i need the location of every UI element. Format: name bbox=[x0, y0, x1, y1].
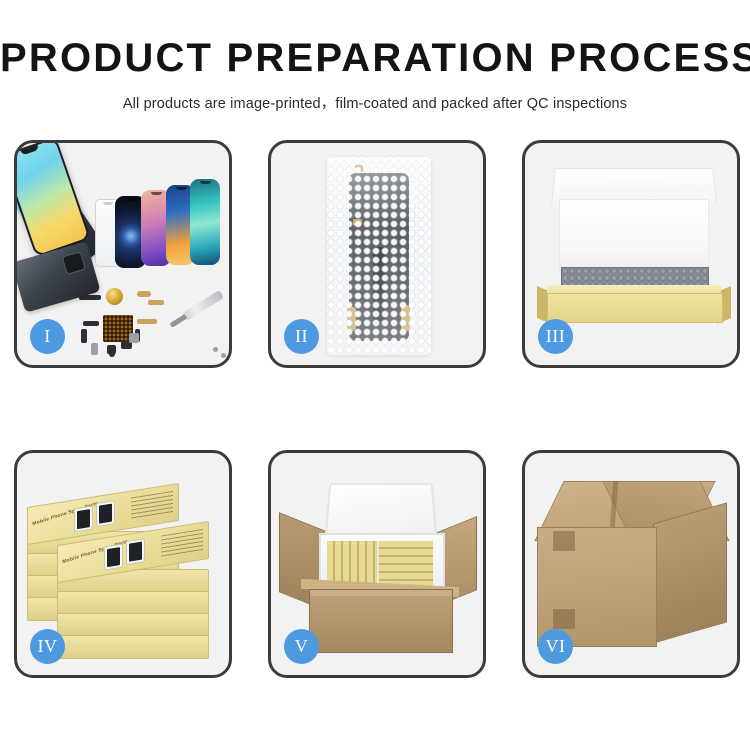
step-panel-4: Mobile Phone Spare Parts Mobile Phone Sp… bbox=[14, 450, 232, 678]
header: PRODUCT PREPARATION PROCESS All products… bbox=[0, 0, 750, 113]
step-badge-6: VI bbox=[538, 629, 573, 664]
carton-tape-lower bbox=[553, 609, 575, 629]
stacked-box bbox=[57, 613, 209, 637]
step-panel-6: VI bbox=[522, 450, 740, 678]
printed-screen-image bbox=[126, 538, 145, 565]
phone-large-foreground bbox=[14, 140, 91, 257]
step-badge-2: II bbox=[284, 319, 319, 354]
printed-screen-image bbox=[96, 500, 115, 527]
box-front-panel bbox=[547, 293, 723, 323]
stacked-box bbox=[57, 591, 209, 615]
carton-front-panel bbox=[309, 589, 453, 653]
page-title: PRODUCT PREPARATION PROCESS bbox=[0, 38, 750, 78]
plastic-sheen bbox=[327, 157, 431, 355]
notch-icon bbox=[176, 187, 187, 190]
step-panel-1: I bbox=[14, 140, 232, 368]
carton-tape-upper bbox=[553, 531, 575, 551]
printed-spec-lines bbox=[161, 529, 203, 560]
printed-spec-lines bbox=[131, 491, 173, 522]
screw-part bbox=[213, 347, 218, 352]
phone-back-chassis bbox=[14, 241, 101, 312]
printed-screen-image bbox=[74, 506, 93, 533]
component-chip bbox=[83, 321, 99, 326]
step-panel-2: II bbox=[268, 140, 486, 368]
foam-box-lid bbox=[324, 483, 437, 539]
component-chip bbox=[129, 333, 139, 343]
carton-side-panel bbox=[653, 502, 727, 643]
step-panel-5: V bbox=[268, 450, 486, 678]
stacked-box bbox=[57, 635, 209, 659]
component-chip bbox=[109, 349, 115, 357]
product-preparation-infographic: PRODUCT PREPARATION PROCESS All products… bbox=[0, 0, 750, 750]
step-badge-5: V bbox=[284, 629, 319, 664]
printed-screen-image bbox=[104, 544, 123, 571]
page-subtitle: All products are image-printed，film-coat… bbox=[0, 92, 750, 113]
notch-icon bbox=[126, 198, 137, 201]
step-badge-3: III bbox=[538, 319, 573, 354]
gold-coil-part bbox=[106, 288, 123, 305]
steps-row-2: Mobile Phone Spare Parts Mobile Phone Sp… bbox=[14, 450, 740, 678]
screwdriver-tool bbox=[182, 290, 224, 321]
component-chip bbox=[137, 319, 157, 324]
component-chip bbox=[148, 300, 164, 305]
step-badge-4: IV bbox=[30, 629, 65, 664]
white-foam-sheet bbox=[559, 199, 709, 275]
steps-grid: I II bbox=[14, 140, 740, 678]
step-badge-1: I bbox=[30, 319, 65, 354]
component-chip bbox=[81, 329, 87, 343]
step-panel-3: III bbox=[522, 140, 740, 368]
steps-row-1: I II bbox=[14, 140, 740, 368]
notch-icon bbox=[200, 181, 211, 184]
component-chip bbox=[91, 343, 98, 355]
inner-boxes-flat bbox=[379, 541, 433, 587]
screw-part bbox=[221, 353, 226, 358]
notch-icon bbox=[151, 192, 162, 195]
phone-teal-screen bbox=[190, 179, 220, 265]
component-chip bbox=[137, 291, 151, 297]
bubble-wrap-bag bbox=[327, 157, 431, 355]
